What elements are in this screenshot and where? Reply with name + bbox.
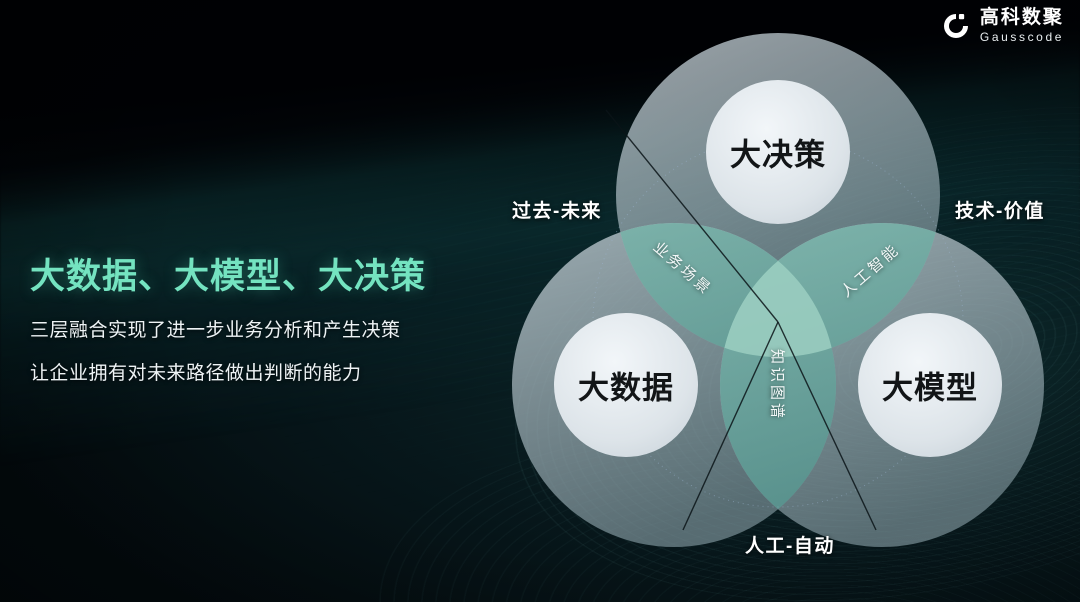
venn-core-label-bigmodel: 大模型 [882, 363, 978, 408]
axis-label-left: 过去-未来 [512, 196, 602, 223]
axis-label-bottom: 人工-自动 [745, 531, 835, 558]
venn-core-label-decision: 大决策 [730, 130, 826, 175]
axis-label-right: 技术-价值 [955, 196, 1045, 223]
venn-diagram: 大决策 大数据 大模型 业务场景 人工智能 知识图谱 [478, 10, 1078, 580]
subtitle-line-1: 三层融合实现了进一步业务分析和产生决策 [30, 315, 490, 342]
subtitle-line-2: 让企业拥有对未来路径做出判断的能力 [30, 358, 490, 385]
slide-canvas: 高科数聚 Gausscode 大数据、大模型、大决策 三层融合实现了进一步业务分… [0, 0, 1080, 602]
copy-block: 大数据、大模型、大决策 三层融合实现了进一步业务分析和产生决策 让企业拥有对未来… [30, 248, 490, 385]
page-title: 大数据、大模型、大决策 [30, 248, 490, 299]
venn-intersection-label-bottom: 知识图谱 [768, 349, 789, 421]
venn-core-label-bigdata: 大数据 [578, 363, 674, 408]
